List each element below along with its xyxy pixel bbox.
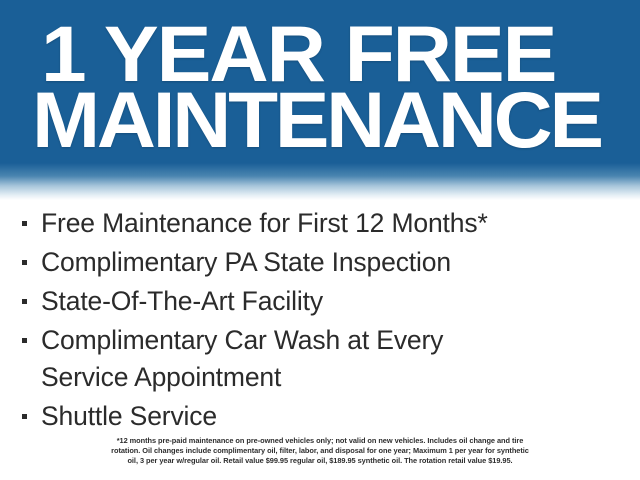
list-item: Shuttle Service bbox=[0, 398, 640, 435]
offer-text: State-Of-The-Art Facility bbox=[41, 283, 640, 320]
offer-text-line-1: Free Maintenance for First 12 Months* bbox=[41, 208, 488, 238]
offer-text-line-2: Service Appointment bbox=[41, 359, 640, 396]
square-bullet-icon bbox=[22, 414, 27, 419]
square-bullet-icon bbox=[22, 338, 27, 343]
offer-text: Complimentary PA State Inspection bbox=[41, 244, 640, 281]
list-item: Complimentary PA State Inspection bbox=[0, 244, 640, 281]
square-bullet-icon bbox=[22, 260, 27, 265]
headline-line-2: MAINTENANCE bbox=[32, 80, 601, 159]
offer-text-line-1: State-Of-The-Art Facility bbox=[41, 286, 323, 316]
disclaimer-line-2: rotation. Oil changes include compliment… bbox=[0, 446, 640, 456]
disclaimer-line-3: oil, 3 per year w/regular oil. Retail va… bbox=[0, 456, 640, 466]
offer-text: Free Maintenance for First 12 Months* bbox=[41, 205, 640, 242]
list-item: Free Maintenance for First 12 Months* bbox=[0, 205, 640, 242]
disclaimer: *12 months pre-paid maintenance on pre-o… bbox=[0, 436, 640, 467]
offer-text: Complimentary Car Wash at Every Service … bbox=[41, 322, 640, 396]
offer-text: Shuttle Service bbox=[41, 398, 640, 435]
offer-text-line-1: Shuttle Service bbox=[41, 401, 217, 431]
offer-text-line-1: Complimentary PA State Inspection bbox=[41, 247, 451, 277]
square-bullet-icon bbox=[22, 299, 27, 304]
list-item: State-Of-The-Art Facility bbox=[0, 283, 640, 320]
offer-list: Free Maintenance for First 12 Months* Co… bbox=[0, 205, 640, 437]
promotional-ad: 1 YEAR FREE MAINTENANCE Free Maintenance… bbox=[0, 0, 640, 480]
disclaimer-line-1: *12 months pre-paid maintenance on pre-o… bbox=[0, 436, 640, 446]
square-bullet-icon bbox=[22, 221, 27, 226]
list-item: Complimentary Car Wash at Every Service … bbox=[0, 322, 640, 396]
offer-text-line-1: Complimentary Car Wash at Every bbox=[41, 325, 443, 355]
header-banner: 1 YEAR FREE MAINTENANCE bbox=[0, 0, 640, 200]
